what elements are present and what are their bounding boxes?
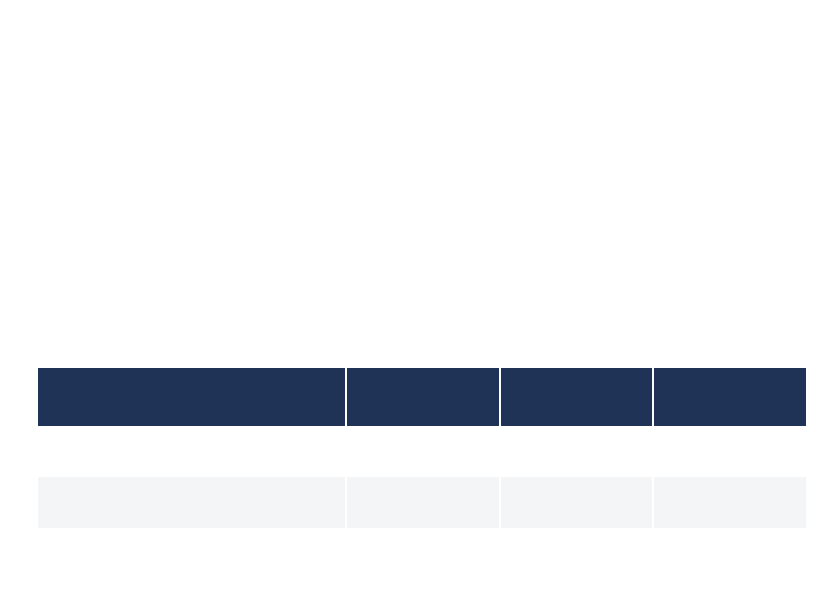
cell-wibor-2028 — [653, 528, 806, 579]
chart-cpi-canvas — [30, 46, 420, 296]
cell-pkb-2028 — [653, 477, 806, 528]
table-header — [38, 368, 806, 426]
cell-cpi-2026 — [346, 426, 500, 477]
table-header-2028 — [653, 368, 806, 426]
table-header-corner — [38, 368, 346, 426]
cell-cpi-2027 — [500, 426, 653, 477]
table-row — [38, 528, 806, 579]
cell-pkb-2026 — [346, 477, 500, 528]
chart-cpi — [30, 46, 420, 296]
table-header-row — [38, 368, 806, 426]
table-header-2027 — [500, 368, 653, 426]
projection-table — [38, 368, 806, 579]
table-body — [38, 426, 806, 579]
row-label-pkb — [38, 477, 346, 528]
table-row — [38, 426, 806, 477]
cell-cpi-2028 — [653, 426, 806, 477]
cell-wibor-2026 — [346, 528, 500, 579]
table-row — [38, 477, 806, 528]
chart-gdp — [420, 46, 810, 296]
chart-gdp-canvas — [420, 46, 810, 296]
cell-wibor-2027 — [500, 528, 653, 579]
row-label-cpi — [38, 426, 346, 477]
row-label-wibor — [38, 528, 346, 579]
cell-pkb-2027 — [500, 477, 653, 528]
table-header-2026 — [346, 368, 500, 426]
